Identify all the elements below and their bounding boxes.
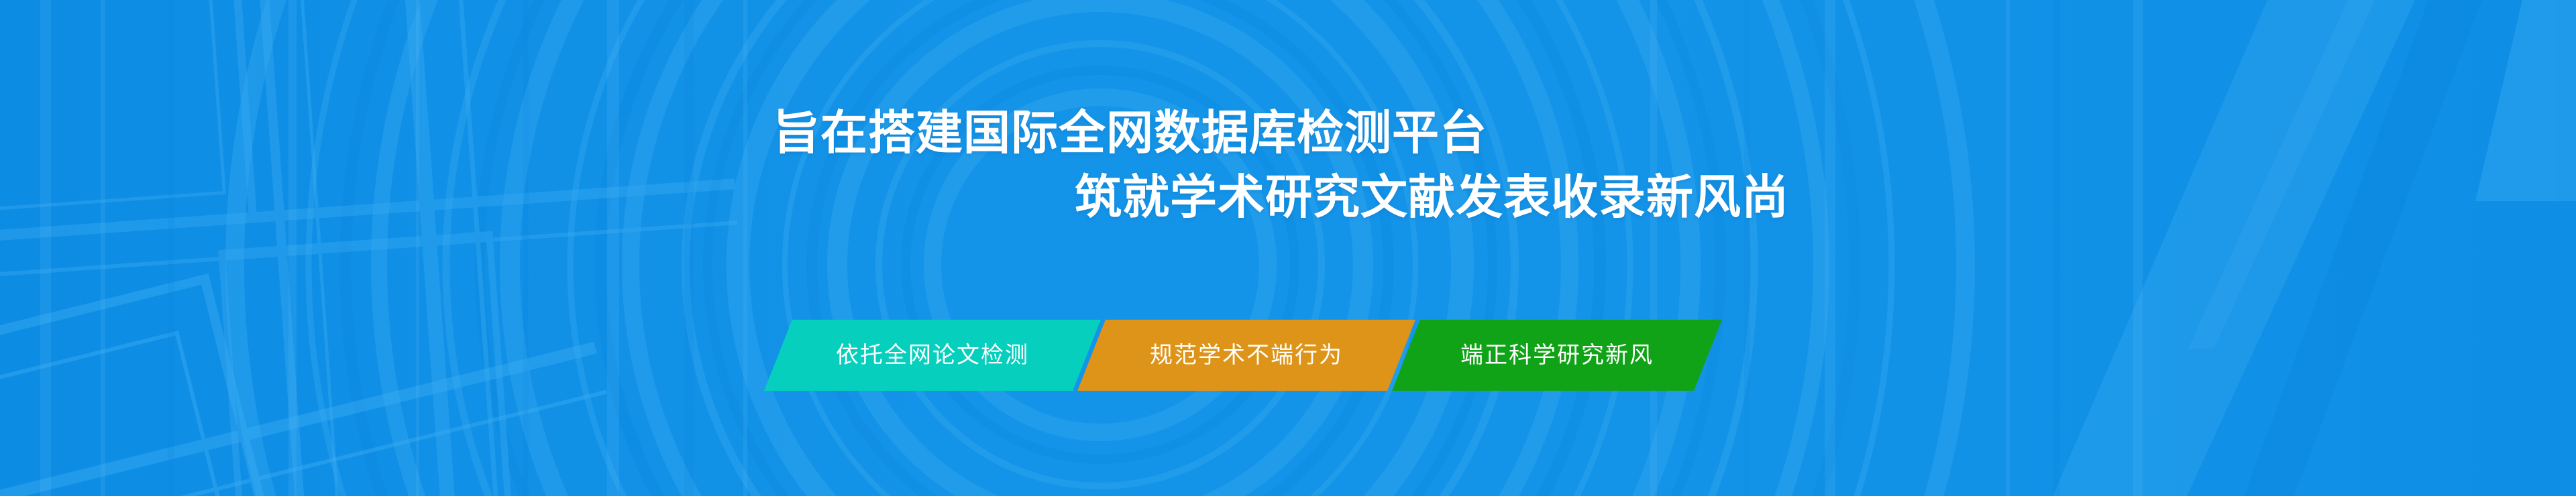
feature-tag-3-label: 端正科学研究新风 [1460,320,1654,391]
feature-tag-2[interactable]: 规范学术不端行为 [1077,320,1415,391]
background-pattern-svg [0,0,2576,496]
feature-tag-1-label: 依托全网论文检测 [836,320,1029,391]
background-decoration [0,0,2576,496]
feature-tag-1[interactable]: 依托全网论文检测 [764,320,1101,391]
headline-block: 旨在搭建国际全网数据库检测平台 筑就学术研究文献发表收录新风尚 [0,101,2576,229]
feature-tag-3[interactable]: 端正科学研究新风 [1392,320,1722,391]
hero-banner: 旨在搭建国际全网数据库检测平台 筑就学术研究文献发表收录新风尚 依托全网论文检测… [0,0,2576,496]
headline-line-1: 旨在搭建国际全网数据库检测平台 [773,101,2576,165]
feature-tag-2-label: 规范学术不端行为 [1150,320,1343,391]
feature-tag-strip: 依托全网论文检测 规范学术不端行为 端正科学研究新风 [778,320,1708,391]
headline-line-2: 筑就学术研究文献发表收录新风尚 [1075,165,2576,229]
